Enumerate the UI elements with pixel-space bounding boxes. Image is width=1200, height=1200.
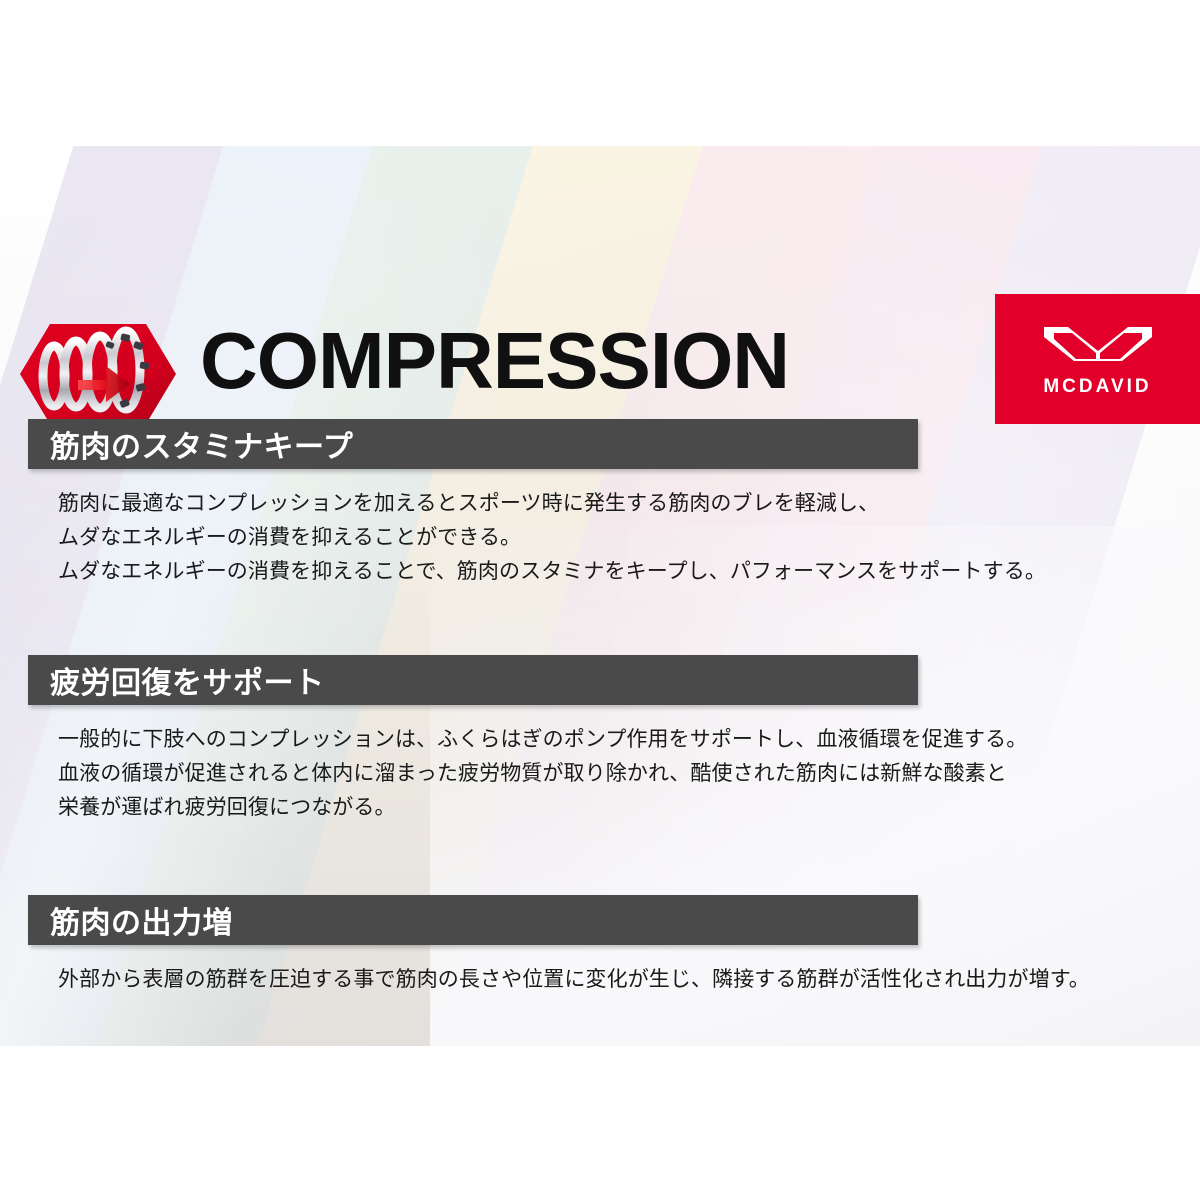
section-heading-bar: 疲労回復をサポート <box>28 655 918 705</box>
section-heading-label: 筋肉のスタミナキープ <box>50 422 353 466</box>
body-line: 外部から表層の筋群を圧迫する事で筋肉の長さや位置に変化が生じ、隣接する筋群が活性… <box>58 963 1180 997</box>
section-heading-bar: 筋肉のスタミナキープ <box>28 419 918 469</box>
body-line: 血液の循環が促進されると体内に溜まった疲労物質が取り除かれ、酷使された筋肉には新… <box>58 757 1180 791</box>
body-line: 筋肉に最適なコンプレッションを加えるとスポーツ時に発生する筋肉のブレを軽減し、 <box>58 487 1180 521</box>
section-muscle-stamina: 筋肉のスタミナキープ 筋肉に最適なコンプレッションを加えるとスポーツ時に発生する… <box>0 419 1200 589</box>
mcdavid-m-shield-icon <box>1038 321 1158 372</box>
mcdavid-logo-plate: MCDAVID <box>995 294 1200 424</box>
compression-coil-hexagon-icon <box>18 318 178 430</box>
body-line: ムダなエネルギーの消費を抑えることで、筋肉のスタミナをキープし、パフォーマンスを… <box>58 555 1180 589</box>
section-body: 筋肉に最適なコンプレッションを加えるとスポーツ時に発生する筋肉のブレを軽減し、 … <box>0 487 1200 589</box>
section-muscle-output: 筋肉の出力増 外部から表層の筋群を圧迫する事で筋肉の長さや位置に変化が生じ、隣接… <box>0 895 1200 997</box>
section-heading-label: 筋肉の出力増 <box>50 898 233 942</box>
body-line: 一般的に下肢へのコンプレッションは、ふくらはぎのポンプ作用をサポートし、血液循環… <box>58 723 1180 757</box>
page-title: COMPRESSION <box>200 322 980 400</box>
section-heading-bar: 筋肉の出力増 <box>28 895 918 945</box>
body-line: 栄養が運ばれ疲労回復につながる。 <box>58 791 1180 825</box>
mcdavid-wordmark: MCDAVID <box>1043 376 1151 398</box>
section-heading-label: 疲労回復をサポート <box>50 658 325 702</box>
section-fatigue-recovery: 疲労回復をサポート 一般的に下肢へのコンプレッションは、ふくらはぎのポンプ作用を… <box>0 655 1200 825</box>
page-root: COMPRESSION ［ コンプレッションの効果 ］ MCDAVID 筋肉のス… <box>0 0 1200 1200</box>
body-line: ムダなエネルギーの消費を抑えることができる。 <box>58 521 1180 555</box>
section-body: 外部から表層の筋群を圧迫する事で筋肉の長さや位置に変化が生じ、隣接する筋群が活性… <box>0 963 1200 997</box>
banner-panel: COMPRESSION ［ コンプレッションの効果 ］ MCDAVID 筋肉のス… <box>0 146 1200 1046</box>
section-body: 一般的に下肢へのコンプレッションは、ふくらはぎのポンプ作用をサポートし、血液循環… <box>0 723 1200 825</box>
